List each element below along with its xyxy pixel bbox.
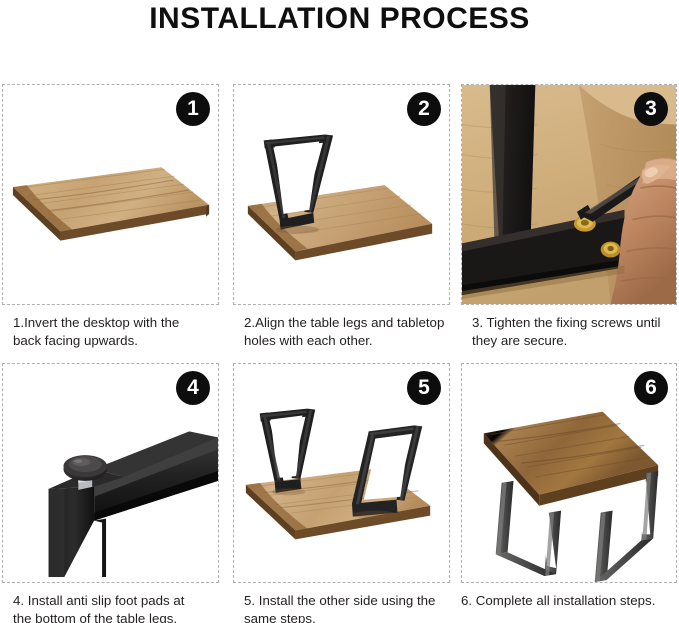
step-caption-4: 4. Install anti slip foot pads at the bo… <box>2 592 219 623</box>
step-badge-5: 5 <box>407 371 441 405</box>
steps-grid: 1 <box>2 84 677 362</box>
steps-row-top: 1 <box>2 84 677 362</box>
step-caption-1: 1.Invert the desktop with the back facin… <box>2 314 219 349</box>
step-badge-3: 3 <box>634 92 668 126</box>
step-panel-1: 1 <box>2 84 219 305</box>
step-cell-2: 2 <box>233 84 450 349</box>
step-panel-3: 3 <box>461 84 677 305</box>
step-cell-5: 5 <box>233 363 450 623</box>
step-badge-4: 4 <box>176 371 210 405</box>
page-title: INSTALLATION PROCESS <box>0 2 679 36</box>
step-caption-2: 2.Align the table legs and tabletop hole… <box>233 314 450 349</box>
step-badge-2: 2 <box>407 92 441 126</box>
step-cell-3: 3 <box>461 84 677 349</box>
step-badge-1: 1 <box>176 92 210 126</box>
step-panel-4: 4 <box>2 363 219 583</box>
step-panel-2: 2 <box>233 84 450 305</box>
step-panel-6: 6 <box>461 363 677 583</box>
step-caption-3: 3. Tighten the fixing screws until they … <box>461 314 677 349</box>
step-panel-5: 5 <box>233 363 450 583</box>
step-badge-6: 6 <box>634 371 668 405</box>
step-cell-6: 6 <box>461 363 677 610</box>
step-caption-5: 5. Install the other side using the same… <box>233 592 450 623</box>
steps-row-bottom: 4 <box>2 363 677 623</box>
step-cell-1: 1 <box>2 84 219 349</box>
step-caption-6: 6. Complete all installation steps. <box>461 592 677 610</box>
installation-process-infographic: INSTALLATION PROCESS 1 <box>0 0 679 623</box>
step-cell-4: 4 <box>2 363 219 623</box>
